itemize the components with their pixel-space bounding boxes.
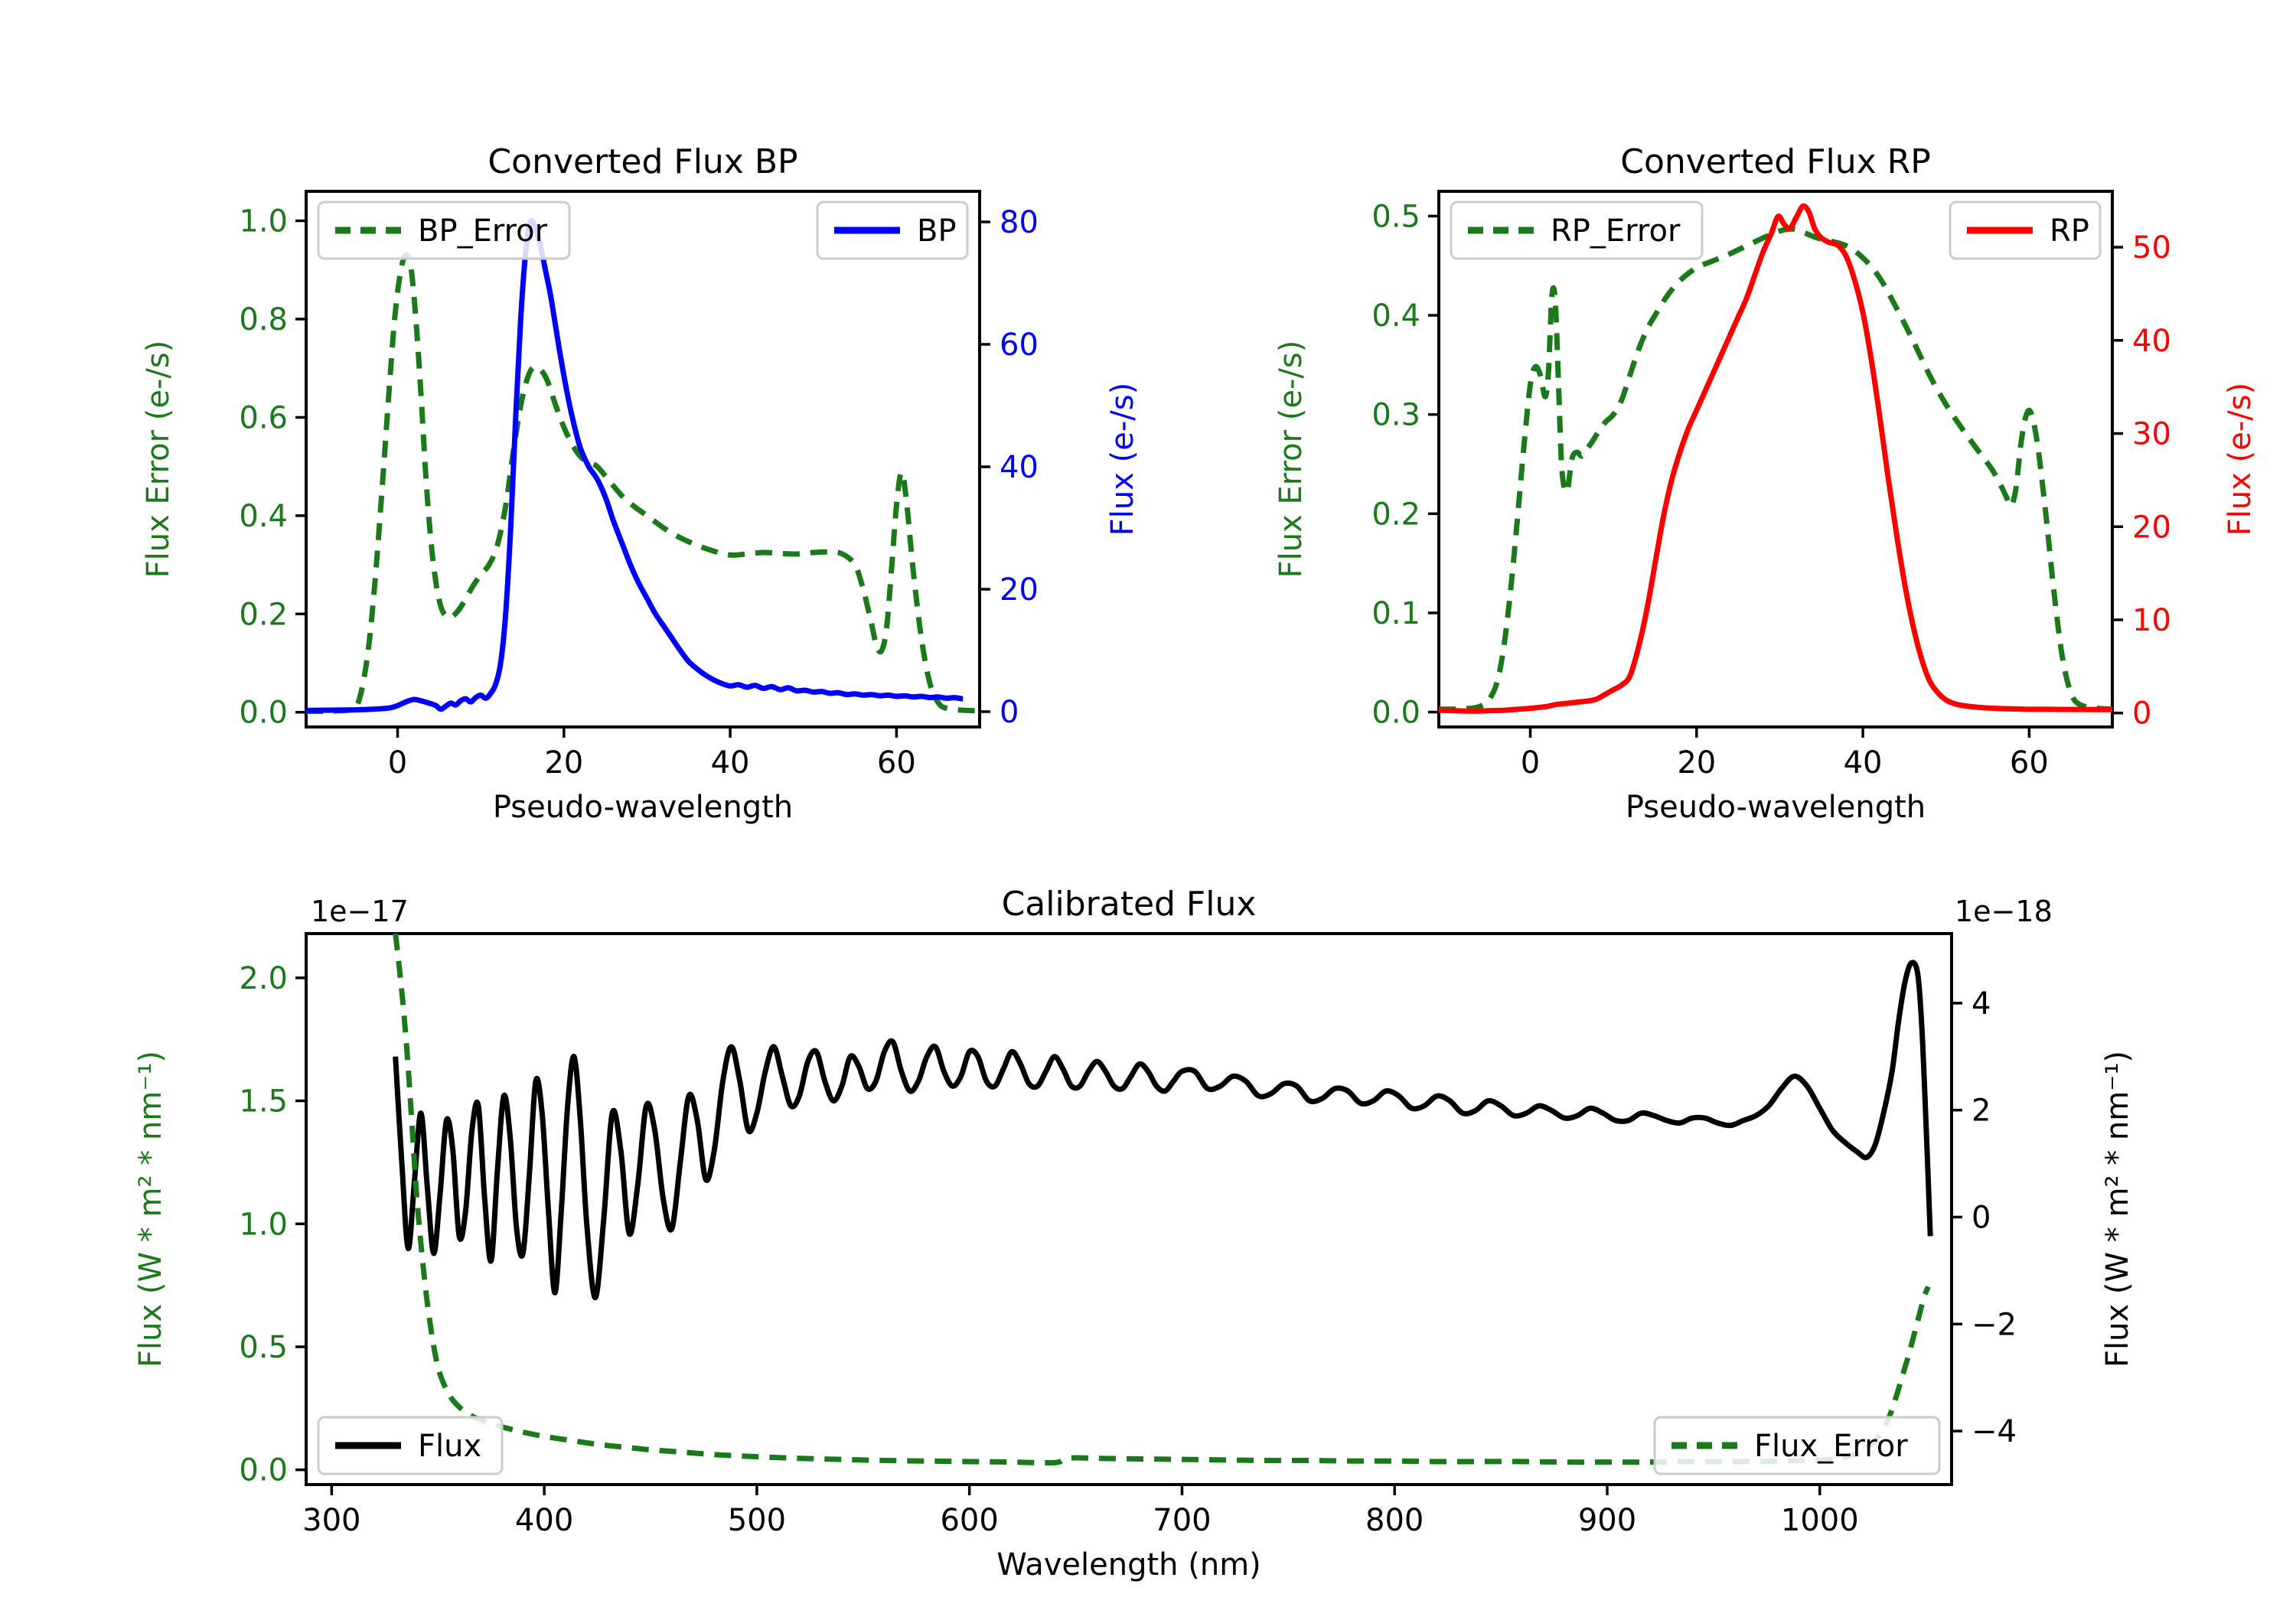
y-tick-label-right: 0: [2132, 696, 2151, 732]
panel-converted-flux-rp: Converted Flux RP0204060Pseudo-wavelengt…: [1140, 69, 2296, 842]
chart-title: Converted Flux BP: [488, 142, 797, 181]
series-line-rp_error: [1439, 229, 2112, 709]
y-axis-label-left: Flux (W * m² * nm⁻¹): [133, 1051, 168, 1367]
x-tick-label: 0: [1521, 745, 1540, 781]
y-tick-label-left: 2.0: [239, 961, 288, 996]
chart-bp[interactable]: Converted Flux BP0204060Pseudo-wavelengt…: [0, 69, 1148, 842]
legend-label: RP: [2050, 214, 2089, 249]
legend-rp[interactable]: RP: [1950, 202, 2100, 259]
legend-label: RP_Error: [1551, 214, 1681, 249]
y-tick-label-right: 30: [2132, 417, 2171, 452]
y-axis-label-right: Flux (e-/s): [2223, 383, 2258, 536]
plot-frame: [306, 191, 980, 727]
figure-canvas: Converted Flux BP0204060Pseudo-wavelengt…: [0, 0, 2296, 1607]
offset-label-right: 1e−18: [1955, 895, 2053, 928]
x-tick-label: 300: [302, 1503, 360, 1538]
chart-title: Calibrated Flux: [1002, 885, 1257, 924]
x-axis-label: Wavelength (nm): [996, 1547, 1261, 1583]
x-tick-label: 0: [388, 745, 407, 781]
series-line-flux: [396, 963, 1931, 1298]
y-tick-label-left: 1.0: [239, 1207, 288, 1242]
y-tick-label-left: 0.8: [239, 302, 288, 337]
y-tick-label-right: 0: [1000, 695, 1019, 730]
chart-title: Converted Flux RP: [1620, 142, 1931, 181]
y-tick-label-left: 1.0: [239, 204, 288, 240]
x-tick-label: 20: [1677, 745, 1716, 781]
y-tick-label-right: 0: [1971, 1200, 1991, 1235]
y-tick-label-left: 0.1: [1371, 596, 1420, 631]
x-tick-label: 1000: [1781, 1503, 1859, 1538]
legend-rp_error[interactable]: RP_Error: [1451, 202, 1702, 259]
x-tick-label: 40: [1844, 745, 1883, 781]
plot-frame: [306, 934, 1952, 1485]
y-tick-label-left: 0.3: [1371, 398, 1420, 433]
y-tick-label-right: 40: [1000, 450, 1039, 485]
y-tick-label-left: 0.0: [239, 1453, 288, 1488]
y-tick-label-right: 50: [2132, 230, 2171, 266]
y-tick-label-right: 10: [2132, 603, 2171, 638]
y-tick-label-left: 0.4: [239, 499, 288, 534]
x-axis-label: Pseudo-wavelength: [1626, 790, 1926, 825]
y-tick-label-left: 1.5: [239, 1084, 288, 1120]
y-tick-label-right: 60: [1000, 328, 1039, 363]
y-tick-label-left: 0.5: [239, 1330, 288, 1365]
y-tick-label-left: 0.2: [1371, 497, 1420, 532]
x-axis-label: Pseudo-wavelength: [493, 790, 793, 825]
legend-flux_error[interactable]: Flux_Error: [1655, 1417, 1939, 1474]
panel-converted-flux-bp: Converted Flux BP0204060Pseudo-wavelengt…: [0, 69, 1148, 842]
legend-label: BP: [917, 214, 957, 249]
y-axis-label-right: Flux (W * m² * nm⁻¹): [2100, 1051, 2135, 1367]
offset-label-left: 1e−17: [311, 895, 409, 928]
y-tick-label-right: 20: [2132, 510, 2171, 545]
y-tick-label-left: 0.0: [239, 696, 288, 731]
series-line-bp_error: [306, 255, 980, 711]
y-tick-label-left: 0.2: [239, 597, 288, 632]
legend-label: Flux_Error: [1754, 1429, 1908, 1464]
plot-frame: [1439, 191, 2112, 727]
y-tick-label-right: 4: [1971, 986, 1991, 1022]
legend-bp_error[interactable]: BP_Error: [318, 202, 569, 259]
y-tick-label-right: −4: [1971, 1414, 2017, 1449]
y-tick-label-left: 0.0: [1371, 696, 1420, 731]
panel-calibrated-flux: Calibrated Flux3004005006007008009001000…: [0, 826, 2296, 1607]
x-tick-label: 60: [2010, 745, 2049, 781]
y-tick-label-right: 20: [1000, 572, 1039, 608]
y-tick-label-right: −2: [1971, 1307, 2017, 1342]
y-axis-label-right: Flux (e-/s): [1105, 383, 1140, 536]
x-tick-label: 400: [515, 1503, 573, 1538]
x-tick-label: 700: [1153, 1503, 1211, 1538]
legend-label: Flux: [418, 1429, 481, 1464]
x-tick-label: 900: [1578, 1503, 1636, 1538]
x-tick-label: 40: [711, 745, 750, 781]
y-tick-label-right: 80: [1000, 205, 1039, 240]
y-tick-label-left: 0.6: [239, 400, 288, 435]
series-line-rp: [1439, 206, 2112, 711]
chart-calibrated[interactable]: Calibrated Flux3004005006007008009001000…: [0, 826, 2296, 1607]
legend-flux[interactable]: Flux: [318, 1417, 502, 1474]
x-tick-label: 600: [940, 1503, 998, 1538]
x-tick-label: 800: [1365, 1503, 1424, 1538]
y-axis-label-left: Flux Error (e-/s): [1274, 341, 1309, 579]
x-tick-label: 20: [544, 745, 583, 781]
y-tick-label-right: 2: [1971, 1094, 1991, 1129]
x-tick-label: 500: [728, 1503, 786, 1538]
legend-label: BP_Error: [418, 214, 548, 249]
y-tick-label-left: 0.5: [1371, 199, 1420, 234]
y-tick-label-right: 40: [2132, 324, 2171, 359]
legend-bp[interactable]: BP: [817, 202, 967, 259]
y-axis-label-left: Flux Error (e-/s): [141, 341, 176, 579]
chart-rp[interactable]: Converted Flux RP0204060Pseudo-wavelengt…: [1140, 69, 2296, 842]
y-tick-label-left: 0.4: [1371, 298, 1420, 334]
x-tick-label: 60: [877, 745, 916, 781]
series-line-bp: [306, 220, 963, 710]
